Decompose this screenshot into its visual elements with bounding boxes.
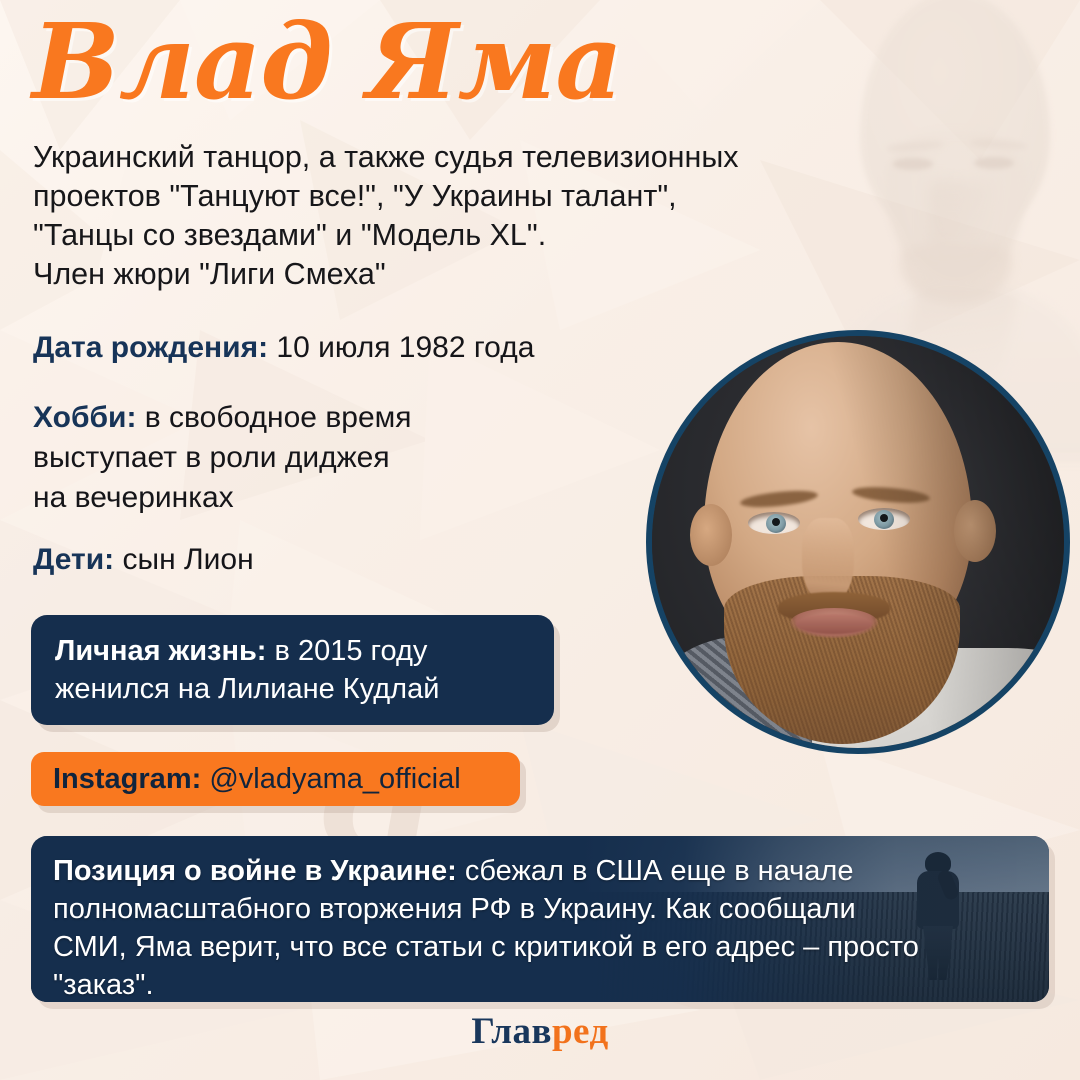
card-war-position-line-2: полномасштабного вторжения РФ в Украину.…: [53, 890, 1027, 928]
card-war-position-label: Позиция о войне в Украине:: [53, 855, 457, 887]
page-title: Влад Яма: [32, 6, 622, 118]
fact-hobby: Хобби: в свободное время выступает в рол…: [33, 398, 553, 518]
description-line-2: проектов "Танцуют все!", "У Украины тала…: [33, 177, 903, 216]
fact-birth-date-value: 10 июля 1982 года: [276, 331, 534, 364]
card-instagram-label: Instagram:: [53, 763, 201, 795]
fact-hobby-value-1: в свободное время: [145, 401, 412, 434]
fact-children-label: Дети:: [33, 543, 114, 576]
card-war-position-line-4: "заказ".: [53, 966, 1027, 1002]
card-instagram[interactable]: Instagram: @vladyama_official: [31, 752, 520, 806]
brand-logo-part-2: ред: [552, 1011, 609, 1052]
fact-hobby-label: Хобби:: [33, 401, 136, 434]
portrait-photo: [646, 330, 1070, 754]
card-personal-life-value-1: в 2015 году: [275, 635, 428, 667]
description-line-3: "Танцы со звездами" и "Модель XL".: [33, 216, 903, 255]
fact-birth-date-label: Дата рождения:: [33, 331, 268, 364]
description-block: Украинский танцор, а также судья телевиз…: [33, 138, 903, 294]
fact-birth-date: Дата рождения: 10 июля 1982 года: [33, 328, 534, 368]
fact-children: Дети: сын Лион: [33, 540, 254, 580]
infographic-canvas: Я Влад Яма Украинский танцор, а также су…: [0, 0, 1080, 1080]
card-war-position-value-1: сбежал в США еще в начале: [465, 855, 854, 887]
brand-logo[interactable]: Главред: [0, 1010, 1080, 1053]
card-personal-life: Личная жизнь: в 2015 году женился на Лил…: [31, 615, 554, 725]
card-instagram-line: Instagram: @vladyama_official: [53, 765, 461, 794]
card-war-position-text: Позиция о войне в Украине: сбежал в США …: [31, 836, 1049, 1002]
card-personal-life-line-2: женился на Лилиане Кудлай: [55, 670, 530, 708]
fact-hobby-line-2: выступает в роли диджея: [33, 438, 553, 478]
card-war-position: Позиция о войне в Украине: сбежал в США …: [31, 836, 1049, 1002]
description-line-4: Член жюри "Лиги Смеха": [33, 255, 903, 294]
portrait-illustration: [652, 336, 1064, 748]
card-instagram-handle[interactable]: @vladyama_official: [209, 763, 460, 795]
fact-hobby-line-1: Хобби: в свободное время: [33, 398, 553, 438]
fact-hobby-line-3: на вечеринках: [33, 478, 553, 518]
card-personal-life-label: Личная жизнь:: [55, 635, 266, 667]
description-line-1: Украинский танцор, а также судья телевиз…: [33, 138, 903, 177]
card-war-position-line-1: Позиция о войне в Украине: сбежал в США …: [53, 852, 1027, 890]
brand-logo-part-1: Глав: [471, 1011, 552, 1052]
fact-children-value: сын Лион: [123, 543, 254, 576]
card-personal-life-line-1: Личная жизнь: в 2015 году: [55, 632, 530, 670]
card-war-position-line-3: СМИ, Яма верит, что все статьи с критико…: [53, 928, 1027, 966]
